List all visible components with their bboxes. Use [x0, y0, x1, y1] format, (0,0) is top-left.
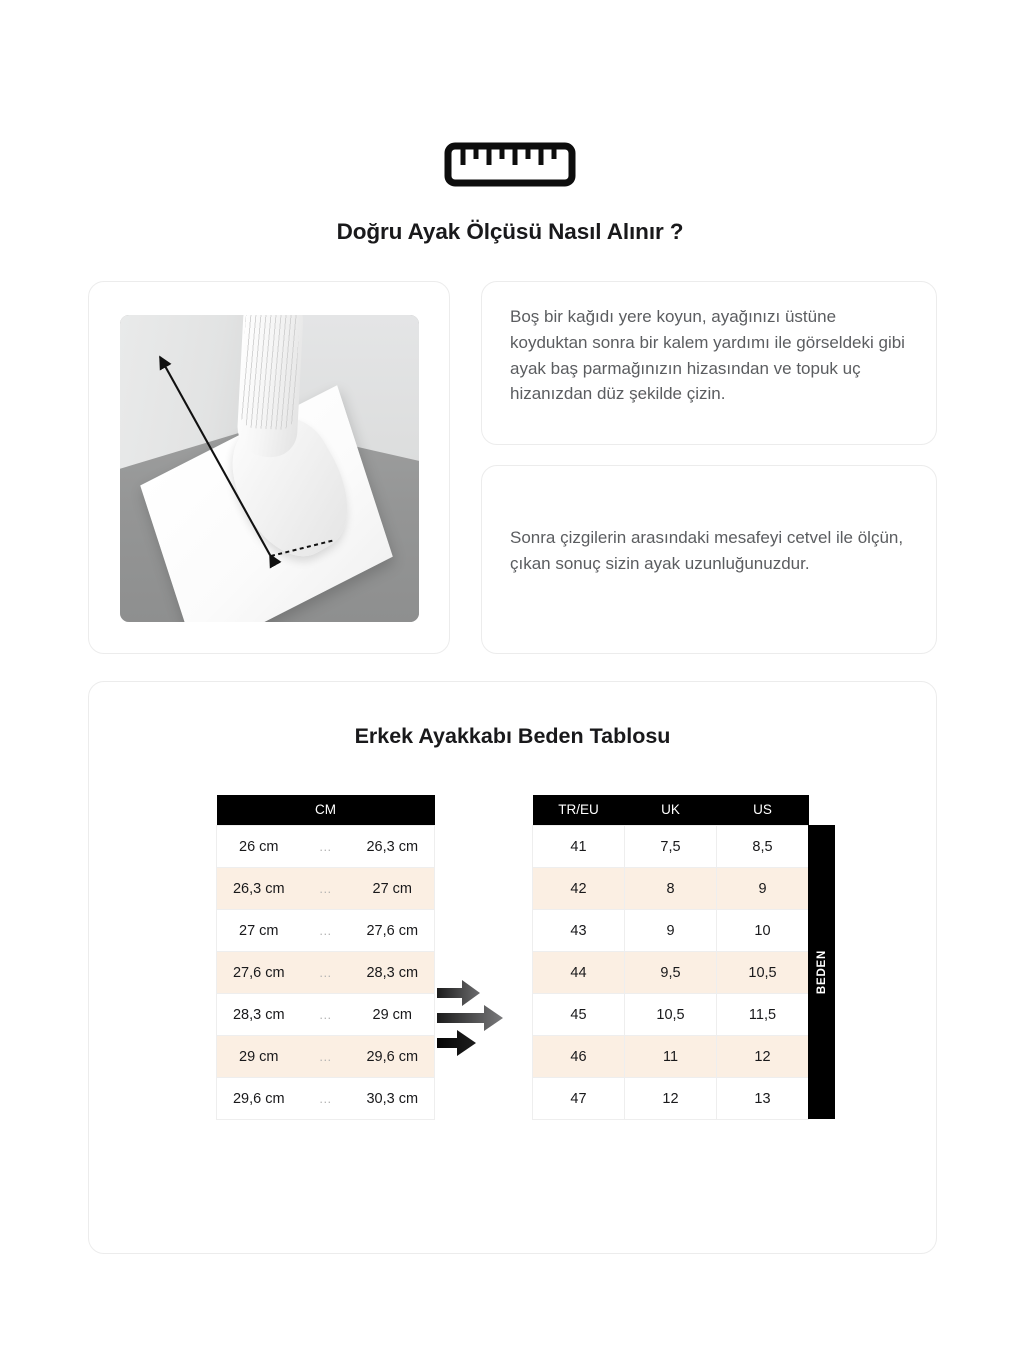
table-row: 46 11 12	[533, 1036, 809, 1078]
cm-to: 29,6 cm	[351, 1036, 435, 1078]
size-chart-card: Erkek Ayakkabı Beden Tablosu CM 26 cm ..…	[88, 681, 937, 1254]
beden-label: BEDEN	[816, 950, 828, 994]
cell-uk: 9	[625, 910, 717, 952]
cell-us: 10	[717, 910, 809, 952]
size-chart-title: Erkek Ayakkabı Beden Tablosu	[89, 724, 936, 749]
cm-to: 28,3 cm	[351, 952, 435, 994]
shoe-size-table: TR/EU UK US 41 7,5 8,5 42 8	[532, 795, 809, 1120]
size-tables-row: CM 26 cm ... 26,3 cm 26,3 cm ... 27 cm	[89, 795, 936, 1120]
size-table-wrapper: TR/EU UK US 41 7,5 8,5 42 8	[532, 795, 809, 1120]
cell-us: 11,5	[717, 994, 809, 1036]
cell-us: 13	[717, 1078, 809, 1120]
cm-to: 27 cm	[351, 868, 435, 910]
cm-to: 27,6 cm	[351, 910, 435, 952]
ruler-icon-container	[0, 142, 1020, 187]
table-row: 27 cm ... 27,6 cm	[217, 910, 435, 952]
cm-separator: ...	[301, 994, 351, 1036]
table-row: 26,3 cm ... 27 cm	[217, 868, 435, 910]
cm-separator: ...	[301, 1078, 351, 1120]
cell-tr-eu: 47	[533, 1078, 625, 1120]
instruction-card-1: Boş bir kağıdı yere koyun, ayağınızı üst…	[481, 281, 937, 445]
cm-separator: ...	[301, 910, 351, 952]
cm-table-header: CM	[217, 795, 435, 826]
cell-us: 8,5	[717, 826, 809, 868]
conversion-arrows	[435, 971, 532, 1066]
cell-tr-eu: 41	[533, 826, 625, 868]
table-row: 41 7,5 8,5	[533, 826, 809, 868]
page-title: Doğru Ayak Ölçüsü Nasıl Alınır ?	[0, 219, 1020, 245]
cell-tr-eu: 46	[533, 1036, 625, 1078]
photo-measurement-arrow	[120, 315, 419, 622]
cm-from: 28,3 cm	[217, 994, 301, 1036]
cell-uk: 7,5	[625, 826, 717, 868]
cm-from: 27 cm	[217, 910, 301, 952]
table-row: 45 10,5 11,5	[533, 994, 809, 1036]
table-row: 26 cm ... 26,3 cm	[217, 826, 435, 868]
ruler-icon	[444, 142, 576, 187]
cell-tr-eu: 43	[533, 910, 625, 952]
instruction-text-2: Sonra çizgilerin arasındaki mesafeyi cet…	[510, 525, 909, 577]
table-row: 29,6 cm ... 30,3 cm	[217, 1078, 435, 1120]
cell-tr-eu: 44	[533, 952, 625, 994]
cm-from: 29,6 cm	[217, 1078, 301, 1120]
table-row: 42 8 9	[533, 868, 809, 910]
cm-from: 26,3 cm	[217, 868, 301, 910]
header-tr-eu: TR/EU	[533, 795, 625, 826]
photo-card	[88, 281, 450, 654]
cell-uk: 12	[625, 1078, 717, 1120]
cell-uk: 11	[625, 1036, 717, 1078]
instruction-text-1: Boş bir kağıdı yere koyun, ayağınızı üst…	[510, 304, 909, 407]
cell-tr-eu: 42	[533, 868, 625, 910]
foot-measurement-photo	[120, 315, 419, 622]
cell-us: 10,5	[717, 952, 809, 994]
cm-separator: ...	[301, 826, 351, 868]
cm-table-header-row: CM	[217, 795, 435, 826]
table-row: 29 cm ... 29,6 cm	[217, 1036, 435, 1078]
arrow-right-icon-1	[437, 980, 480, 1006]
cell-us: 9	[717, 868, 809, 910]
cm-to: 30,3 cm	[351, 1078, 435, 1120]
table-row: 28,3 cm ... 29 cm	[217, 994, 435, 1036]
header-us: US	[717, 795, 809, 826]
beden-side-bar: BEDEN	[808, 825, 835, 1119]
arrow-right-icon-3	[437, 1030, 476, 1056]
cell-uk: 9,5	[625, 952, 717, 994]
size-guide-page: Doğru Ayak Ölçüsü Nasıl Alınır ?	[0, 0, 1020, 1360]
table-row: 44 9,5 10,5	[533, 952, 809, 994]
cm-from: 29 cm	[217, 1036, 301, 1078]
cm-from: 26 cm	[217, 826, 301, 868]
cell-tr-eu: 45	[533, 994, 625, 1036]
cm-to: 29 cm	[351, 994, 435, 1036]
cm-separator: ...	[301, 952, 351, 994]
cm-to: 26,3 cm	[351, 826, 435, 868]
arrow-right-icon-2	[437, 1005, 503, 1031]
table-row: 27,6 cm ... 28,3 cm	[217, 952, 435, 994]
cm-separator: ...	[301, 1036, 351, 1078]
table-row: 47 12 13	[533, 1078, 809, 1120]
cm-range-table: CM 26 cm ... 26,3 cm 26,3 cm ... 27 cm	[216, 795, 435, 1120]
table-row: 43 9 10	[533, 910, 809, 952]
header-uk: UK	[625, 795, 717, 826]
size-table-header-row: TR/EU UK US	[533, 795, 809, 826]
cell-uk: 8	[625, 868, 717, 910]
cell-uk: 10,5	[625, 994, 717, 1036]
instruction-card-2: Sonra çizgilerin arasındaki mesafeyi cet…	[481, 465, 937, 654]
cm-separator: ...	[301, 868, 351, 910]
cm-from: 27,6 cm	[217, 952, 301, 994]
cell-us: 12	[717, 1036, 809, 1078]
